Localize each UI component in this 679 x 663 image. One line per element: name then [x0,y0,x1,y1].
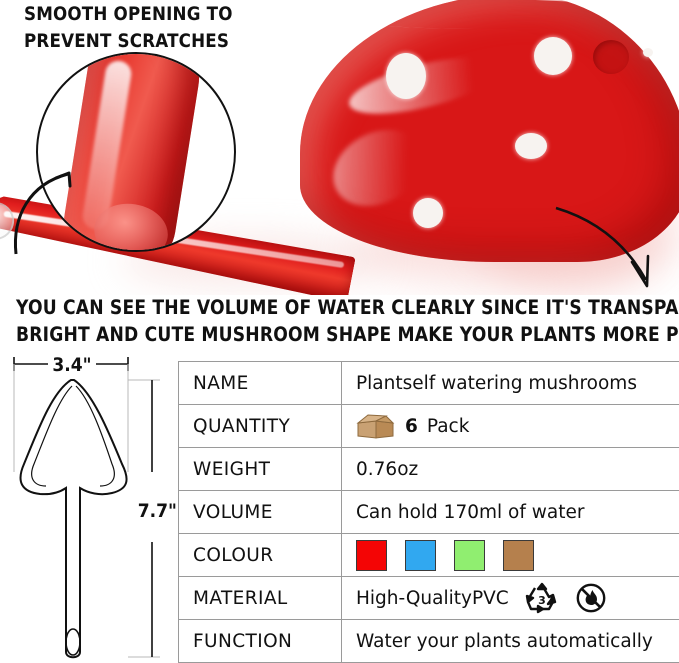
colour-swatch-blue [405,540,436,571]
table-row: FUNCTION Water your plants automatically [179,620,679,663]
row-value: 0.76oz [342,448,679,491]
dimension-diagram: 3.4" 7.7" [0,352,176,663]
table-row: NAME Plantself watering mushrooms [179,362,679,405]
colour-swatch-red [356,540,387,571]
width-label: 3.4" [52,354,91,376]
cap-dot [643,48,653,57]
headline-line-1: SMOOTH OPENING TO [24,3,233,25]
callout-arrow-down-right [552,196,672,291]
row-value: Water your plants automatically [342,620,679,663]
table-row: WEIGHT 0.76oz [179,448,679,491]
banner-line-1: YOU CAN SEE THE VOLUME OF WATER CLEARLY … [16,296,679,319]
table-row: MATERIAL High-QualityPVC [179,577,679,620]
table-row: QUANTITY 6 Pack [179,405,679,448]
table-row: COLOUR [179,534,679,577]
callout-arrow-to-loupe [8,150,94,260]
cap-dot [515,133,547,159]
colour-swatches [356,540,679,571]
row-value: High-QualityPVC [342,577,679,620]
height-label: 7.7" [138,500,176,522]
product-infographic: SMOOTH OPENING TO PREVENT SCRATCHES YOU … [0,0,679,663]
colour-swatch-brown [503,540,534,571]
headline-line-2: PREVENT SCRATCHES [24,30,229,52]
package-box-icon [356,411,396,441]
row-value: 6 Pack [342,405,679,448]
material-text: High-QualityPVC [356,588,509,609]
row-key: FUNCTION [179,620,342,663]
row-key: QUANTITY [179,405,342,448]
cap-dot [534,37,572,75]
row-value: Plantself watering mushrooms [342,362,679,405]
spec-table: NAME Plantself watering mushrooms QUANTI… [178,361,679,663]
recycle-code-number: 3 [538,594,546,607]
recycle-3-icon: 3 [525,582,559,614]
row-value: Can hold 170ml of water [342,491,679,534]
colour-swatch-green [454,540,485,571]
cap-dot [413,198,443,228]
quantity-unit: Pack [427,416,470,437]
banner-line-2: BRIGHT AND CUTE MUSHROOM SHAPE MAKE YOUR… [16,323,679,346]
row-key: NAME [179,362,342,405]
row-key: MATERIAL [179,577,342,620]
row-key: COLOUR [179,534,342,577]
cap-dot-shadowed [593,40,629,74]
quantity-count: 6 [405,416,418,437]
no-flame-icon [575,582,607,614]
table-row: VOLUME Can hold 170ml of water [179,491,679,534]
row-key: VOLUME [179,491,342,534]
product-outline [21,380,127,657]
row-value [342,534,679,577]
row-key: WEIGHT [179,448,342,491]
cap-dot [386,53,426,99]
